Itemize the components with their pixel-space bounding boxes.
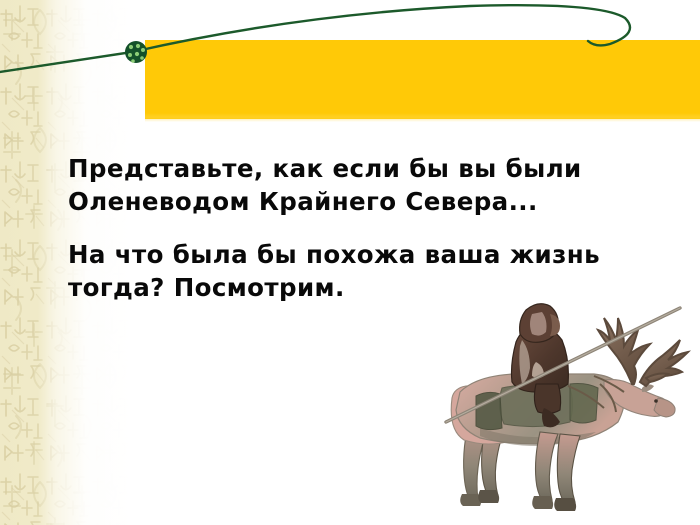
rider-leg <box>534 384 560 414</box>
rider-face <box>530 312 547 336</box>
deer-antlers <box>598 318 688 386</box>
reindeer-herder-riding-reindeer <box>418 288 700 525</box>
yellow-banner-bottom-fade <box>145 113 700 122</box>
deer-eye <box>654 399 658 403</box>
paragraph-1: Представьте, как если бы вы были Оленево… <box>68 152 668 218</box>
deer-front-leg-far <box>536 432 559 500</box>
paragraph-1-line-1: Представьте, как если бы вы были <box>68 152 668 185</box>
deer-hoof-rear-near <box>478 490 499 503</box>
deer-hoof-front-far <box>532 496 553 509</box>
deer-front-leg-near <box>557 434 580 502</box>
slide-text-block: Представьте, как если бы вы были Оленево… <box>68 152 668 304</box>
paragraph-2-line-1: На что была бы похожа ваша жизнь <box>68 238 668 271</box>
deer-hoof-rear-far <box>460 494 481 506</box>
deer-hoof-front-near <box>554 498 576 511</box>
yellow-banner <box>145 40 700 119</box>
paragraph-1-line-2: Оленеводом Крайнего Севера... <box>68 185 668 218</box>
slide-canvas: Представьте, как если бы вы были Оленево… <box>0 0 700 525</box>
